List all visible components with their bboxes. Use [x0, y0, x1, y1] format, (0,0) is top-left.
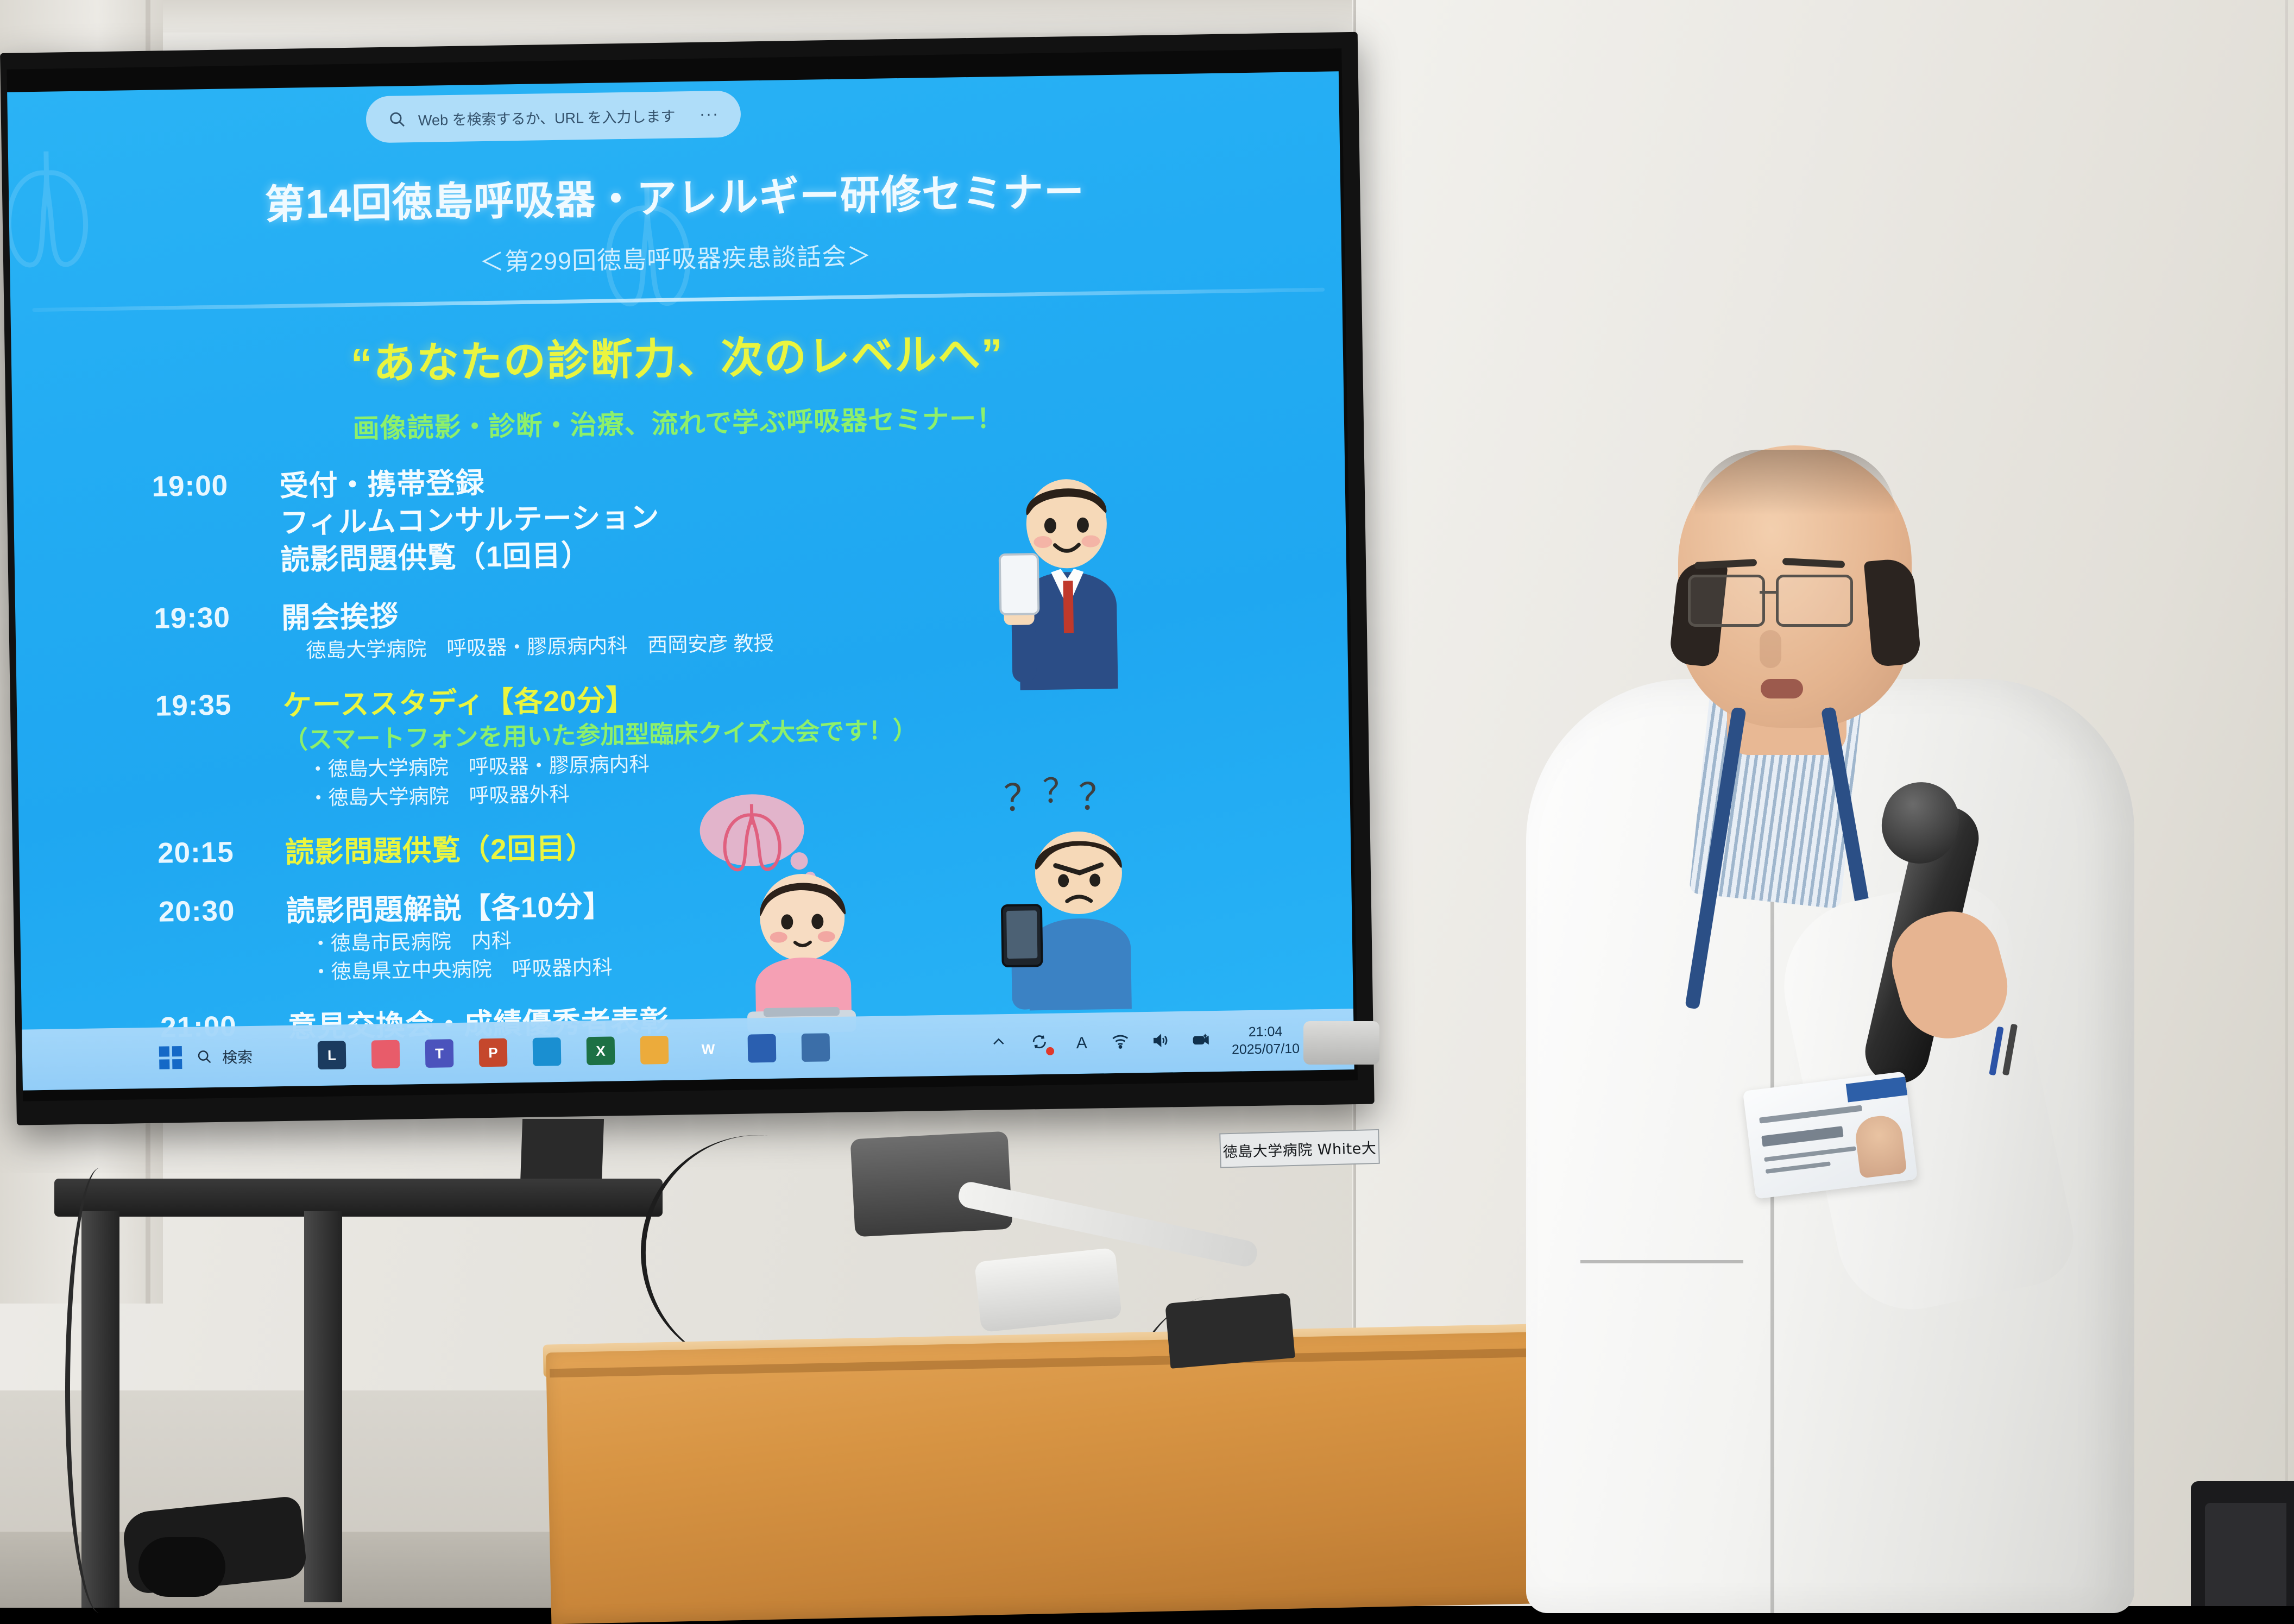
taskbar-app-icons[interactable]: LTPXW — [318, 1033, 830, 1069]
app-icon-glyph: P — [488, 1044, 498, 1061]
app-icon-glyph: X — [596, 1042, 606, 1059]
glasses-lens-right — [1776, 575, 1853, 627]
coat-pocket-left — [1580, 1260, 1743, 1263]
taskbar-clock[interactable]: 21:04 2025/07/10 — [1231, 1023, 1300, 1059]
excel-icon[interactable]: X — [587, 1036, 615, 1065]
badge-name-line — [1761, 1126, 1843, 1147]
system-tray[interactable]: A — [990, 1022, 1340, 1062]
podium — [546, 1331, 1610, 1624]
monitor-asset-label: 徳島大学病院 White大 — [1219, 1129, 1380, 1168]
badge-color-bar — [1846, 1077, 1907, 1102]
badge-id-line — [1766, 1161, 1831, 1174]
photos-icon[interactable] — [748, 1034, 777, 1063]
agenda-row-body: ケーススタディ【各20分】（スマートフォンを用いた参加型臨床クイズ大会です！）・… — [282, 675, 1080, 813]
monitor-stand-leg-right — [304, 1211, 342, 1602]
browser-search-bar[interactable]: Web を検索するか、URL を入力します ··· — [365, 91, 741, 143]
cable-left — [65, 1168, 135, 1613]
monitor-stand-neck — [520, 1119, 604, 1184]
podium-device — [1165, 1293, 1295, 1369]
corner-equipment-inner — [2205, 1503, 2286, 1606]
glasses-lens-left — [1688, 575, 1765, 627]
slide-catchphrase: “あなたの診断力、次のレベルへ” — [11, 314, 1343, 396]
loupe-app-icon[interactable]: L — [318, 1041, 346, 1069]
search-icon — [388, 110, 407, 129]
clipart-thinking-woman — [692, 790, 886, 1046]
slide-catchphrase-sub: 画像読影・診断・治療、流れで学ぶ呼吸器セミナー！ — [12, 392, 1344, 451]
nose — [1760, 630, 1781, 668]
taskbar-search-label: 検索 — [222, 1046, 253, 1068]
agenda-row: 19:30開会挨拶徳島大学病院 呼吸器・膠原病内科 西岡安彦 教授 — [154, 588, 1078, 668]
presenter — [1515, 424, 2167, 1608]
badge-dept-line — [1764, 1146, 1856, 1162]
wifi-icon[interactable] — [1111, 1031, 1133, 1054]
slide-title: 第14回徳島呼吸器・アレルギー研修セミナー — [9, 155, 1341, 235]
badge-photo — [1854, 1113, 1907, 1179]
meet-now-icon[interactable] — [1191, 1030, 1213, 1053]
camera-mount — [850, 1131, 1012, 1237]
agenda-row-time: 19:30 — [154, 600, 282, 668]
volume-icon[interactable] — [1151, 1031, 1173, 1053]
agenda-row-time: 19:00 — [152, 468, 281, 581]
agenda-row: 19:35ケーススタディ【各20分】（スマートフォンを用いた参加型臨床クイズ大会… — [155, 675, 1080, 815]
clock-date: 2025/07/10 — [1232, 1040, 1300, 1059]
badge-org-line — [1759, 1105, 1862, 1124]
agenda-row: 19:00受付・携帯登録フィルムコンサルテーション読影問題供覧（1回目） — [152, 456, 1076, 581]
microsoft-365-icon[interactable] — [371, 1040, 400, 1069]
hair-top — [1694, 450, 1895, 515]
lecture-room-scene: Web を検索するか、URL を入力します ··· 第14回徳島呼吸器・アレルギ… — [0, 0, 2294, 1606]
sync-status-icon[interactable] — [1030, 1033, 1053, 1055]
windows-logo-icon[interactable] — [159, 1046, 182, 1069]
id-badge — [1743, 1071, 1918, 1199]
word-icon[interactable]: W — [694, 1035, 723, 1063]
microsoft-teams-icon[interactable]: T — [425, 1039, 454, 1068]
monitor-screen[interactable]: Web を検索するか、URL を入力します ··· 第14回徳島呼吸器・アレルギ… — [7, 71, 1354, 1090]
file-explorer-icon[interactable] — [640, 1036, 669, 1065]
agenda-row-time: 19:35 — [155, 688, 285, 815]
agenda-row: 20:30読影問題解説【各10分】・徳島市民病院 内科・徳島県立中央病院 呼吸器… — [158, 881, 1083, 990]
app-icon-glyph: T — [435, 1045, 444, 1062]
clipart-confused-man: ？ ？ ？ — [995, 775, 1162, 1019]
browser-overflow-icon[interactable]: ··· — [699, 105, 720, 124]
chevron-up-icon[interactable] — [990, 1034, 1012, 1056]
svg-text:？: ？ — [1078, 776, 1116, 819]
svg-text:？: ？ — [1042, 775, 1076, 811]
mouth — [1761, 679, 1803, 698]
agenda-row-body: 受付・携帯登録フィルムコンサルテーション読影問題供覧（1回目） — [279, 456, 1076, 578]
taskbar-search[interactable]: 検索 — [196, 1046, 253, 1068]
calculator-icon[interactable] — [802, 1033, 830, 1062]
agenda-list: 19:00受付・携帯登録フィルムコンサルテーション読影問題供覧（1回目）19:3… — [152, 456, 1084, 1069]
arm-joint — [974, 1248, 1122, 1332]
wall-seam-right — [2285, 0, 2288, 1606]
agenda-row-body: 読影問題解説【各10分】・徳島市民病院 内科・徳島県立中央病院 呼吸器内科 — [286, 881, 1083, 987]
glasses-bridge — [1760, 591, 1777, 594]
powerpoint-icon[interactable]: P — [479, 1038, 508, 1067]
app-icon-glyph: L — [327, 1047, 336, 1063]
wall-display-monitor[interactable]: Web を検索するか、URL を入力します ··· 第14回徳島呼吸器・アレルギ… — [0, 32, 1375, 1125]
app-icon-glyph: W — [701, 1041, 715, 1058]
agenda-row-time: 20:30 — [158, 893, 287, 990]
browser-search-placeholder: Web を検索するか、URL を入力します — [418, 104, 676, 129]
hair-right — [1864, 557, 1922, 667]
monitor-bezel: Web を検索するか、URL を入力します ··· 第14回徳島呼吸器・アレルギ… — [7, 48, 1358, 1101]
monitor-caster-wheel — [138, 1537, 225, 1597]
monitor-stand-crossbar — [54, 1179, 663, 1217]
agenda-row-body: 開会挨拶徳島大学病院 呼吸器・膠原病内科 西岡安彦 教授 — [281, 588, 1078, 665]
agenda-row-time: 20:15 — [157, 835, 286, 874]
search-icon — [196, 1048, 213, 1066]
microsoft-edge-icon[interactable] — [533, 1037, 562, 1066]
svg-text:？: ？ — [1003, 777, 1041, 820]
ime-indicator[interactable]: A — [1070, 1033, 1093, 1055]
clock-time: 21:04 — [1231, 1023, 1300, 1041]
wall-bracket — [1303, 1021, 1379, 1065]
clipart-man-with-smartphone — [985, 471, 1146, 704]
